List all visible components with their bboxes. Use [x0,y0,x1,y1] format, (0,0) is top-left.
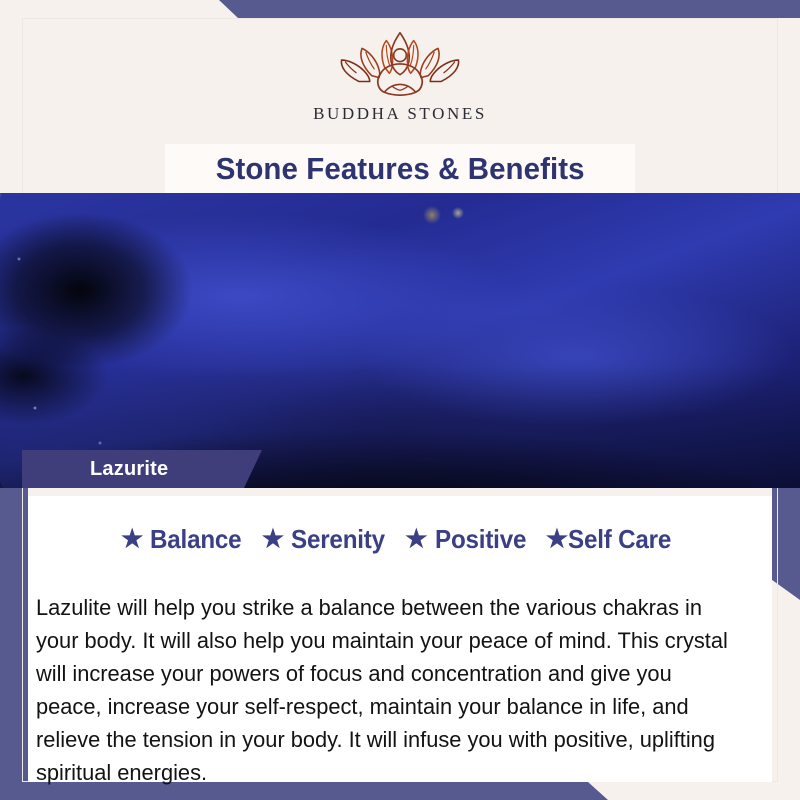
lotus-meditating-figure-icon [325,24,475,102]
keyword-label: Positive [435,524,526,555]
product-info-card: BUDDHA STONES Stone Features & Benefits … [0,0,800,800]
stone-name-label: Lazurite [22,450,262,488]
accent-band-right [772,488,800,600]
keyword-label: Self Care [568,524,671,555]
star-icon: ★ [405,527,427,552]
keyword-label: Serenity [291,524,385,555]
stone-photo-inclusions [0,193,800,488]
keyword-row: ★ Balance ★ Serenity ★ Positive ★ Self C… [28,524,772,555]
accent-band-left [0,488,28,782]
star-icon: ★ [262,527,284,552]
keyword-label: Balance [150,524,241,555]
stone-photo [0,193,800,488]
stone-name-text: Lazurite [90,458,168,481]
title-banner: Stone Features & Benefits [165,144,635,194]
keyword-item-positive: ★ Positive [405,524,533,555]
body-paragraph: Lazulite will help you strike a balance … [36,591,742,789]
brand-header: BUDDHA STONES [0,18,800,144]
accent-band-top [215,0,800,18]
content-panel: ★ Balance ★ Serenity ★ Positive ★ Self C… [28,490,772,782]
star-icon: ★ [546,527,568,552]
star-icon: ★ [121,527,143,552]
keyword-item-serenity: ★ Serenity [262,524,392,555]
keyword-item-balance: ★ Balance [121,524,249,555]
keyword-item-self-care: ★ Self Care [546,524,679,555]
brand-name: BUDDHA STONES [313,104,487,124]
page-title: Stone Features & Benefits [216,151,585,187]
